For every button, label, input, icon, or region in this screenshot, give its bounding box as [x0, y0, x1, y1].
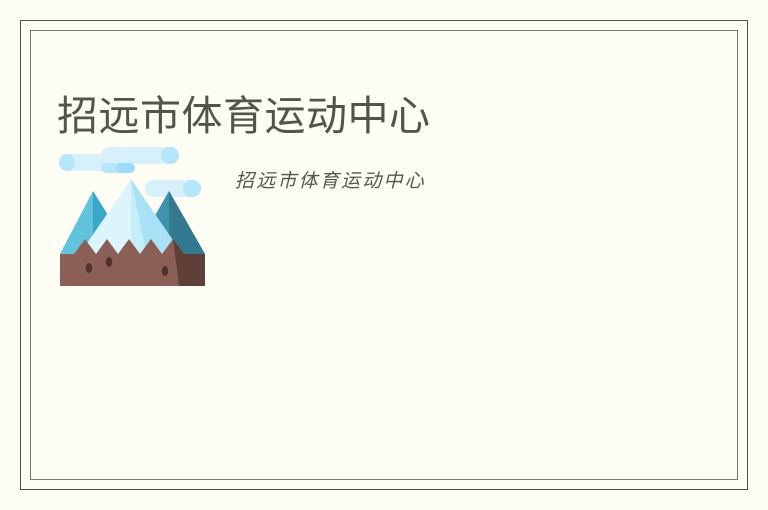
- broken-image-alt-text: 招远市体育运动中心: [235, 168, 426, 194]
- mountain-placeholder-icon: [57, 146, 208, 297]
- page-title: 招远市体育运动中心: [57, 91, 431, 141]
- broken-image-block: 招远市体育运动中心: [57, 146, 497, 298]
- page-root: 招远市体育运动中心: [0, 0, 768, 510]
